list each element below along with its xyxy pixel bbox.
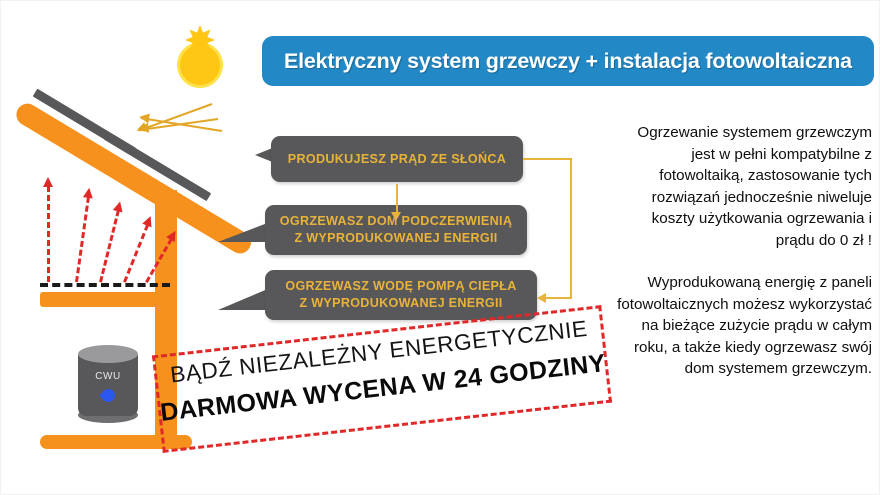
flow-arrow-down-head (391, 212, 401, 221)
infographic-canvas: CWU Elektryczny system grzewczy + instal… (0, 0, 880, 495)
promo-callout: BĄDŹ NIEZALEŻNY ENERGETYCZNIE DARMOWA WY… (152, 305, 612, 453)
flow-connector-left (545, 297, 572, 299)
description-paragraph-2: Wyprodukowaną energię z paneli fotowolta… (610, 272, 872, 380)
tank-top (78, 345, 138, 363)
tank-label: CWU (78, 371, 138, 382)
flow-arrow-left-head (537, 293, 546, 303)
description-paragraph-1: Ogrzewanie systemem grzewczym jest w peł… (610, 122, 872, 251)
banner-title: Elektryczny system grzewczy + instalacja… (262, 49, 852, 74)
infrared-heating-panel-icon (40, 292, 170, 307)
callout-tail (218, 288, 270, 310)
tank-body (78, 354, 138, 416)
description-column: Ogrzewanie systemem grzewczym jest w peł… (610, 122, 872, 380)
step-heat-water-line-1: OGRZEWASZ WODĘ POMPĄ CIEPŁA (285, 278, 516, 295)
sun-icon (160, 25, 240, 105)
step-produce-box: PRODUKUJESZ PRĄD ZE SŁOŃCA (271, 136, 523, 182)
step-produce-line-1: PRODUKUJESZ PRĄD ZE SŁOŃCA (288, 151, 506, 168)
header-banner: Elektryczny system grzewczy + instalacja… (262, 36, 874, 86)
flow-connector-right (523, 158, 572, 160)
hot-water-tank: CWU (78, 345, 138, 423)
step-heat-water-line-2: Z WYPRODUKOWANEJ ENERGII (299, 295, 502, 312)
step-heat-water-box: OGRZEWASZ WODĘ POMPĄ CIEPŁA Z WYPRODUKOW… (265, 270, 537, 320)
step-heat-home-line-2: Z WYPRODUKOWANEJ ENERGII (294, 230, 497, 247)
flow-connector-vertical (570, 158, 572, 298)
ceiling-line (40, 283, 170, 287)
flow-connector-down (396, 184, 398, 214)
